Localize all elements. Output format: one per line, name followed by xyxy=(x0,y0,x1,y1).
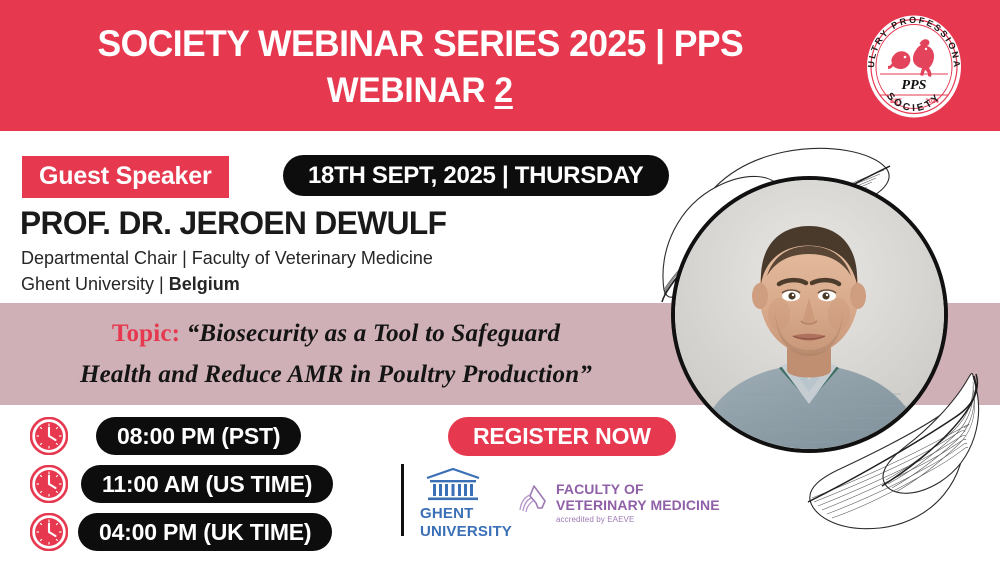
speaker-portrait-area xyxy=(654,156,974,476)
ghent-university-label: GHENT UNIVERSITY xyxy=(420,505,515,540)
webinar-number-title: WEBINAR 2 xyxy=(327,73,513,110)
time-badge-us: 11:00 AM (US TIME) xyxy=(81,465,333,503)
clock-icon xyxy=(30,465,68,503)
speaker-name: PROF. DR. JEROEN DEWULF xyxy=(20,205,446,242)
topic-text-block: Topic: “Biosecurity as a Tool to Safegua… xyxy=(0,303,672,405)
time-badge-pst: 08:00 PM (PST) xyxy=(96,417,301,455)
webinar-number: 2 xyxy=(495,71,513,110)
affiliation-line-2: Ghent University | Belgium xyxy=(21,272,433,298)
speaker-portrait xyxy=(671,176,948,453)
ghent-line-2: UNIVERSITY xyxy=(420,523,515,541)
topic-label: Topic: xyxy=(112,320,180,347)
affiliation-university: Ghent University | xyxy=(21,274,169,294)
partner-divider xyxy=(401,464,404,536)
page-title: SOCIETY WEBINAR SERIES 2025 | PPS xyxy=(97,25,743,64)
header-banner: SOCIETY WEBINAR SERIES 2025 | PPS WEBINA… xyxy=(0,0,1000,131)
time-row: 11:00 AM (US TIME) xyxy=(0,465,333,503)
register-now-button[interactable]: REGISTER NOW xyxy=(448,417,676,456)
time-row: 04:00 PM (UK TIME) xyxy=(0,513,332,551)
time-list: 08:00 PM (PST) 11:00 AM (US TIME) xyxy=(0,412,400,557)
guest-speaker-badge: Guest Speaker xyxy=(22,156,229,198)
clock-icon xyxy=(30,417,68,455)
clock-icon xyxy=(30,513,68,551)
ghent-university-logo: GHENT UNIVERSITY xyxy=(420,468,515,540)
time-row: 08:00 PM (PST) xyxy=(0,417,301,455)
faculty-veterinary-medicine-label: FACULTY OF VETERINARY MEDICINE accredite… xyxy=(556,481,720,526)
webinar-label: WEBINAR xyxy=(327,71,495,110)
speaker-photo xyxy=(675,180,944,449)
ghent-line-1: GHENT xyxy=(420,505,515,523)
affiliation-country: Belgium xyxy=(169,274,240,294)
topic-title-part-1: “Biosecurity as a Tool to Safeguard xyxy=(187,320,560,347)
topic-line-1: Topic: “Biosecurity as a Tool to Safegua… xyxy=(112,313,560,354)
ghent-university-temple-icon xyxy=(423,468,483,502)
veterinary-horse-head-icon xyxy=(518,484,550,514)
fvm-line-1: FACULTY OF xyxy=(556,481,720,497)
webinar-poster: SOCIETY WEBINAR SERIES 2025 | PPS WEBINA… xyxy=(0,0,1000,561)
affiliation-line-1: Departmental Chair | Faculty of Veterina… xyxy=(21,246,433,272)
fvm-line-2: VETERINARY MEDICINE xyxy=(556,497,720,513)
faculty-veterinary-medicine-logo: FACULTY OF VETERINARY MEDICINE accredite… xyxy=(518,481,720,526)
date-badge: 18TH SEPT, 2025 | THURSDAY xyxy=(283,155,669,196)
pps-society-badge-logo: PPS EST 2024 POULTRY PROFESSIONALS SOCIE… xyxy=(858,13,970,120)
pps-center-text: PPS xyxy=(902,78,927,93)
topic-line-2: Health and Reduce AMR in Poultry Product… xyxy=(80,354,592,395)
speaker-affiliation: Departmental Chair | Faculty of Veterina… xyxy=(21,246,433,297)
header-title-group: SOCIETY WEBINAR SERIES 2025 | PPS WEBINA… xyxy=(0,0,840,131)
time-badge-uk: 04:00 PM (UK TIME) xyxy=(78,513,332,551)
fvm-accreditation: accredited by EAEVE xyxy=(556,515,720,525)
